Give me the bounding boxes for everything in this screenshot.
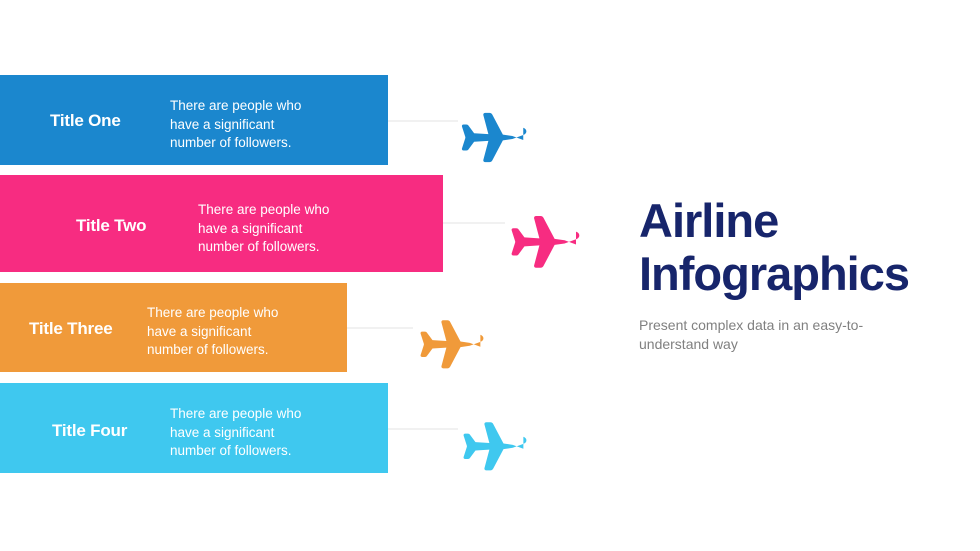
info-bar-1-title: Title One — [50, 111, 121, 131]
info-bar-3-description: There are people who have a significant … — [147, 304, 278, 360]
info-bar-2-title: Title Two — [76, 216, 146, 236]
info-bar-3[interactable]: Title Three There are people who have a … — [0, 283, 347, 372]
info-bar-4-description: There are people who have a significant … — [170, 405, 301, 461]
infographic-slide: Title One There are people who have a si… — [0, 0, 980, 551]
info-bar-2[interactable]: Title Two There are people who have a si… — [0, 175, 443, 272]
connector-line-3 — [347, 327, 413, 329]
info-bar-3-title: Title Three — [29, 319, 112, 339]
page-subtitle: Present complex data in an easy-to-under… — [639, 316, 914, 354]
airplane-icon-4 — [450, 400, 528, 478]
info-bar-2-inner: Title Two There are people who have a si… — [0, 175, 443, 272]
info-bar-3-inner: Title Three There are people who have a … — [0, 283, 347, 372]
info-bar-4-title: Title Four — [52, 421, 127, 441]
info-bar-1-description: There are people who have a significant … — [170, 97, 301, 153]
connector-line-2 — [443, 222, 505, 224]
info-bar-1-inner: Title One There are people who have a si… — [0, 75, 388, 165]
info-bar-4-inner: Title Four There are people who have a s… — [0, 383, 388, 473]
connector-line-4 — [388, 428, 458, 430]
airplane-icon-1 — [448, 90, 528, 170]
airplane-icon-3 — [407, 298, 485, 376]
page-title: Airline Infographics — [639, 194, 959, 300]
info-bar-1[interactable]: Title One There are people who have a si… — [0, 75, 388, 165]
info-bar-4[interactable]: Title Four There are people who have a s… — [0, 383, 388, 473]
airplane-icon-2 — [497, 192, 581, 276]
info-bar-2-description: There are people who have a significant … — [198, 201, 329, 257]
